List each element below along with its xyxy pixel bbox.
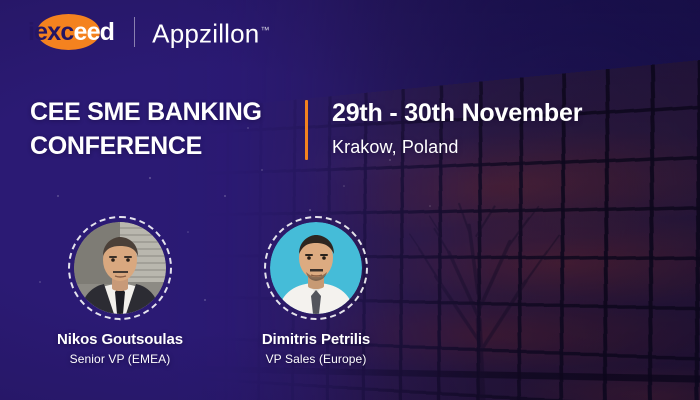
- logo-row: iexceed Appzillon™: [28, 12, 270, 52]
- trademark-icon: ™: [260, 25, 269, 35]
- headline-block: CEE SME BANKING CONFERENCE: [30, 96, 298, 163]
- appzillon-logo-text: Appzillon: [152, 19, 259, 49]
- speaker-name: Dimitris Petrilis: [262, 331, 370, 348]
- iexceed-logo-text-prefix: iexc: [28, 18, 73, 46]
- banner-content: iexceed Appzillon™ CEE SME BANKING CONFE…: [0, 0, 700, 400]
- speaker-card: Dimitris Petrilis VP Sales (Europe): [218, 216, 414, 366]
- headline-line-1: CEE SME BANKING: [30, 96, 298, 130]
- speaker-card: Nikos Goutsoulas Senior VP (EMEA): [22, 216, 218, 366]
- speaker-title: VP Sales (Europe): [266, 352, 367, 366]
- speaker-name: Nikos Goutsoulas: [57, 331, 183, 348]
- speaker-title: Senior VP (EMEA): [70, 352, 171, 366]
- speaker-portrait-dimitris: [270, 222, 362, 314]
- avatar: [270, 222, 362, 314]
- conference-promo-banner: iexceed Appzillon™ CEE SME BANKING CONFE…: [0, 0, 700, 400]
- event-location: Krakow, Poland: [332, 137, 582, 158]
- event-details-block: 29th - 30th November Krakow, Poland: [332, 98, 582, 158]
- avatar: [74, 222, 166, 314]
- logo-divider: [134, 17, 135, 47]
- orange-accent-divider: [305, 100, 308, 160]
- iexceed-logo-text: iexceed: [28, 12, 114, 52]
- avatar-dashed-ring: [68, 216, 172, 320]
- event-dates: 29th - 30th November: [332, 98, 582, 129]
- appzillon-logo: Appzillon™: [152, 10, 270, 54]
- iexceed-logo-text-suffix: eed: [73, 18, 114, 46]
- headline-line-2: CONFERENCE: [30, 130, 298, 164]
- speaker-portrait-nikos: [74, 222, 166, 314]
- iexceed-logo: iexceed: [28, 12, 114, 52]
- avatar-dashed-ring: [264, 216, 368, 320]
- speakers-row: Nikos Goutsoulas Senior VP (EMEA): [22, 216, 414, 366]
